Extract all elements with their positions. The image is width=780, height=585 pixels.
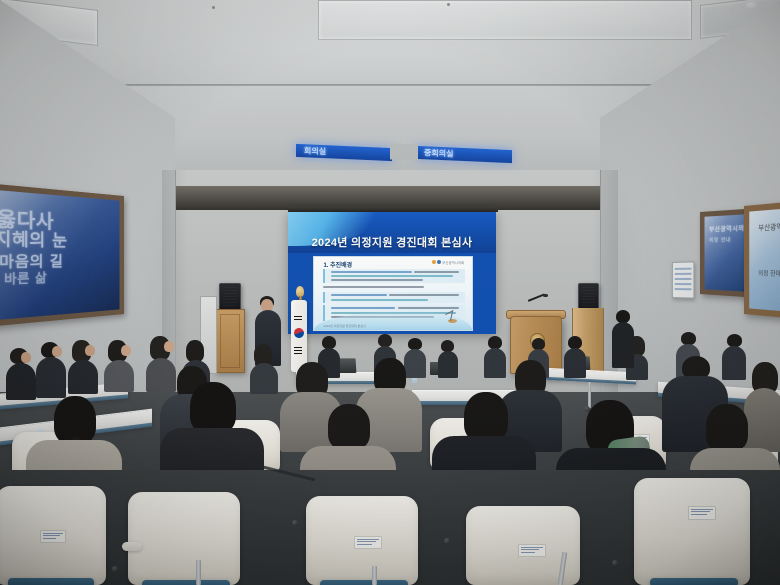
smoke-detector-icon [745, 2, 759, 9]
chair-label [518, 544, 546, 557]
led-sign-right-text: 중회의실 [424, 147, 453, 159]
slide-title: 2024년 의정지원 경진대회 본심사 [288, 234, 496, 250]
attendee-profile [104, 340, 134, 392]
chair-foreground [0, 486, 106, 585]
glass-glare [749, 201, 780, 319]
ceiling-fixture-dot [212, 6, 215, 9]
speaker-right-icon [578, 283, 599, 310]
led-sign-left-text: 회의실 [304, 145, 326, 157]
attendee [564, 336, 586, 378]
slide-footer: 2024년 의정지원 경진대회 본심사 [323, 324, 365, 328]
attendee-profile [6, 348, 36, 400]
slide-section-heading: 1. 추진배경 [323, 260, 352, 269]
chair-armrest [122, 542, 142, 551]
wooden-cabinet-left [215, 309, 245, 373]
chair-caster [444, 538, 450, 544]
chair-caster [112, 566, 118, 572]
chair-seat [8, 578, 94, 585]
slide-content-area: 1. 추진배경 부산광역시의회 [313, 256, 473, 331]
chair-backrest [128, 492, 240, 585]
chair-leg [196, 560, 201, 585]
ceiling-light-panel [318, 0, 692, 40]
attendee-profile [36, 342, 66, 398]
wall-notice-board [672, 261, 694, 298]
slide-bullet-block [323, 292, 464, 303]
attendee-profile [68, 340, 98, 394]
chair-label [40, 530, 66, 543]
chair-foreground [128, 492, 240, 585]
slide-surface: 2024년 의정지원 경진대회 본심사 일시: 2024. 12. 16.(월)… [288, 212, 496, 334]
microphone-head-icon [543, 294, 548, 297]
slide-bullet-block [323, 269, 464, 283]
framed-calligraphy-right-large: 恒 想 부산광역시의회 의정 한마당 [744, 193, 780, 327]
chair-seat [650, 578, 738, 585]
org-logo-icon: 부산광역시의회 [432, 260, 464, 265]
org-logo-label: 부산광역시의회 [442, 260, 464, 265]
projection-screen: 2024년 의정지원 경진대회 본심사 일시: 2024. 12. 16.(월)… [288, 212, 496, 334]
framed-calligraphy-left: 옳다사 지혜의 눈 마음의 길 바른 삶 [0, 183, 124, 327]
conference-room-photo: 회의실 중회의실 옳다사 지혜의 눈 마음의 길 바른 삶 부산광역시의회 의정… [0, 0, 780, 585]
chair-label [688, 506, 716, 520]
chair-seat [142, 580, 230, 585]
speaker-left-icon [219, 283, 241, 311]
standing-attendee [612, 310, 634, 368]
ceiling-fixture-dot [447, 3, 450, 6]
slide-illustration [443, 309, 459, 323]
chair-seat [320, 580, 408, 585]
chair-caster [292, 520, 298, 526]
glass-glare [705, 214, 750, 292]
chair-foreground [634, 478, 750, 585]
chair-leg [372, 566, 377, 585]
chair-label [354, 536, 382, 549]
sign-divider [390, 143, 418, 160]
chair-backrest [634, 478, 750, 585]
attendee [438, 340, 458, 378]
taeguk-symbol-icon [293, 327, 306, 340]
chair-caster [612, 560, 618, 566]
slide-plain-line [323, 285, 462, 289]
glass-glare [0, 190, 120, 321]
chair-foreground [306, 496, 418, 585]
